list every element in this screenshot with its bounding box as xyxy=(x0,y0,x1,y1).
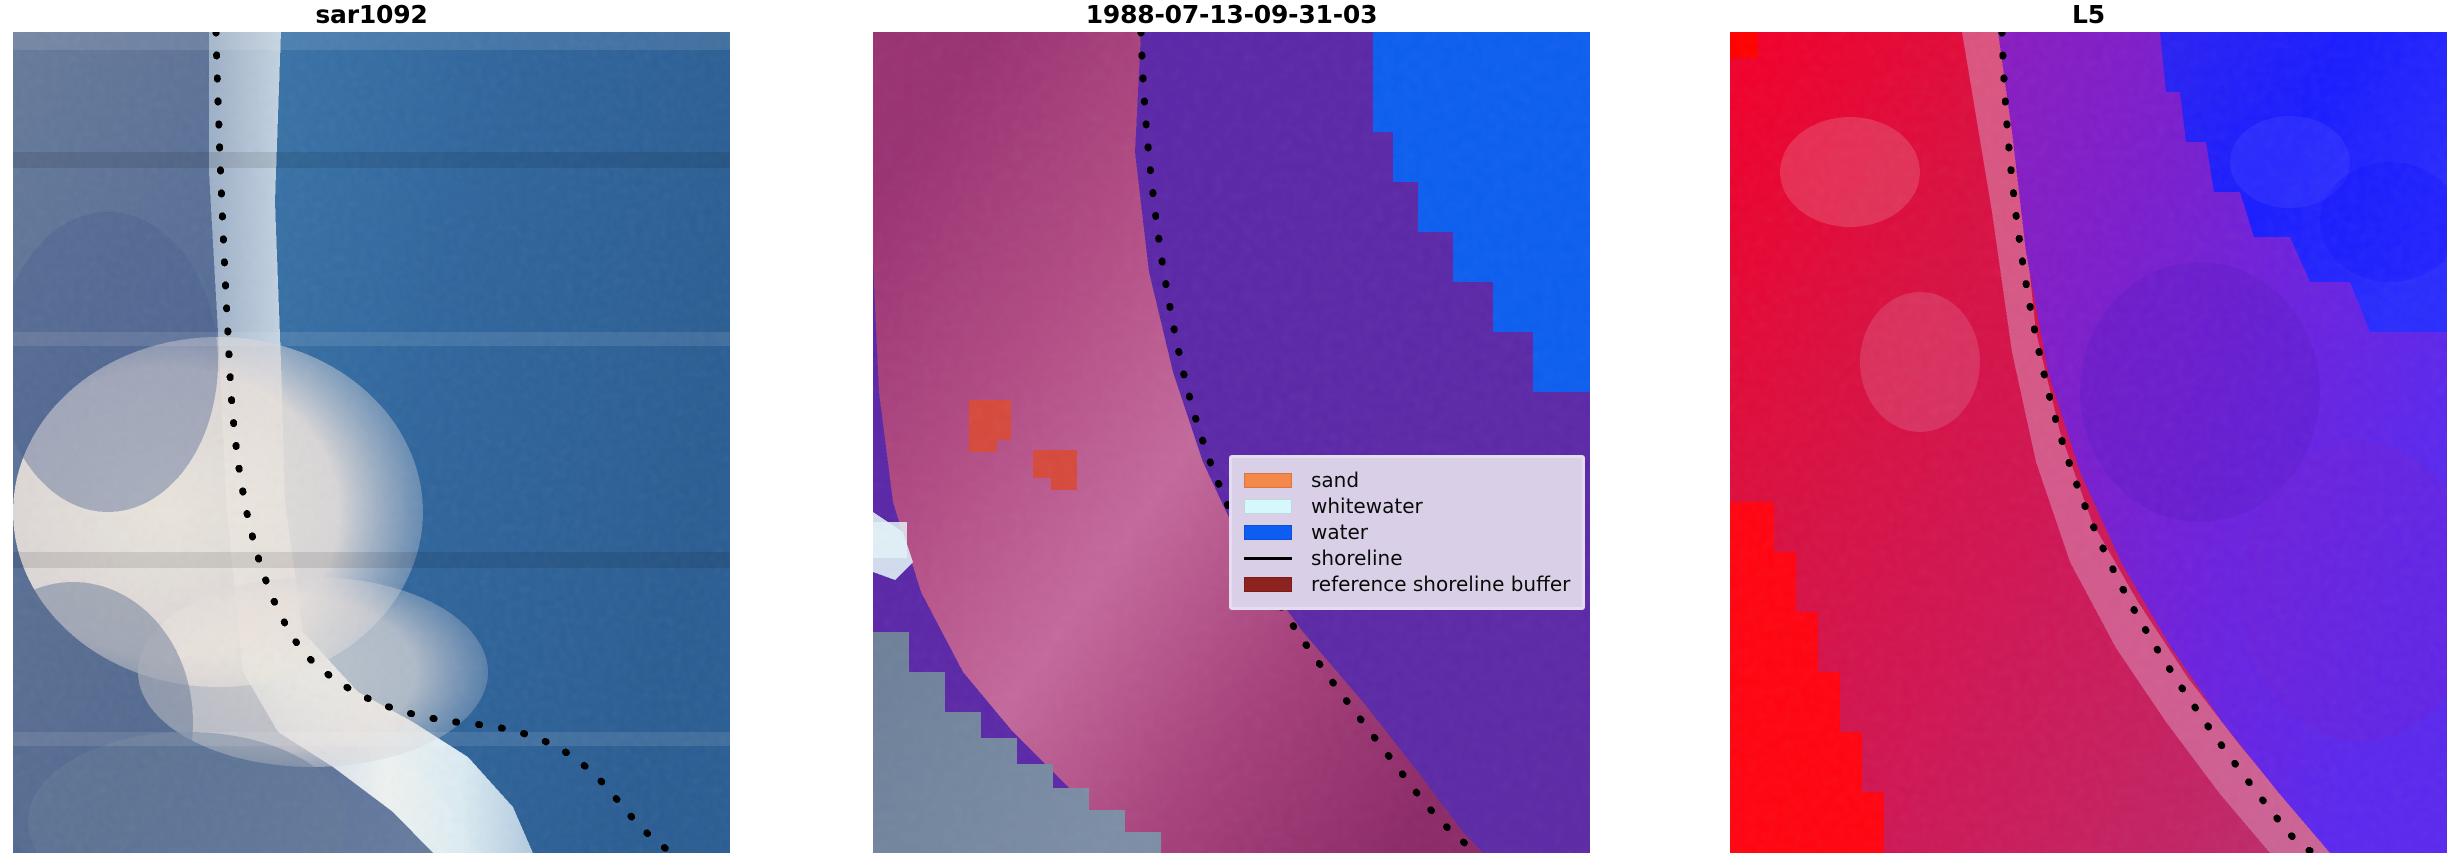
legend-item-whitewater: whitewater xyxy=(1244,493,1572,519)
image-sar1092[interactable] xyxy=(13,32,730,853)
legend-label-water: water xyxy=(1311,521,1368,543)
legend-swatch-reference-buffer-icon xyxy=(1244,577,1292,592)
panel-classified: 1988-07-13-09-31-03 xyxy=(873,0,1590,868)
figure-canvas: sar1092 xyxy=(0,0,2460,868)
legend-label-sand: sand xyxy=(1311,469,1359,491)
raster-sar1092 xyxy=(13,32,730,853)
legend-item-water: water xyxy=(1244,519,1572,545)
legend-item-sand: sand xyxy=(1244,467,1572,493)
legend-line-shoreline-icon xyxy=(1244,551,1292,566)
legend-label-reference-shoreline-buffer: reference shoreline buffer xyxy=(1311,573,1570,595)
panel-sar1092: sar1092 xyxy=(13,0,730,868)
panel-title-sar1092: sar1092 xyxy=(13,0,730,32)
image-l5[interactable] xyxy=(1730,32,2447,853)
legend-swatch-water-icon xyxy=(1244,525,1292,540)
panel-title-classified: 1988-07-13-09-31-03 xyxy=(873,0,1590,32)
raster-l5 xyxy=(1730,32,2447,853)
image-classified[interactable] xyxy=(873,32,1590,853)
legend-item-reference-shoreline-buffer: reference shoreline buffer xyxy=(1244,571,1572,597)
legend-swatch-sand-icon xyxy=(1244,473,1292,488)
panel-title-l5: L5 xyxy=(1730,0,2447,32)
legend-item-shoreline: shoreline xyxy=(1244,545,1572,571)
legend-label-whitewater: whitewater xyxy=(1311,495,1423,517)
legend-label-shoreline: shoreline xyxy=(1311,547,1403,569)
legend-swatch-whitewater-icon xyxy=(1244,499,1292,514)
raster-classified xyxy=(873,32,1590,853)
panel-l5: L5 xyxy=(1730,0,2447,868)
legend: sand whitewater water shoreline referenc… xyxy=(1229,455,1585,610)
